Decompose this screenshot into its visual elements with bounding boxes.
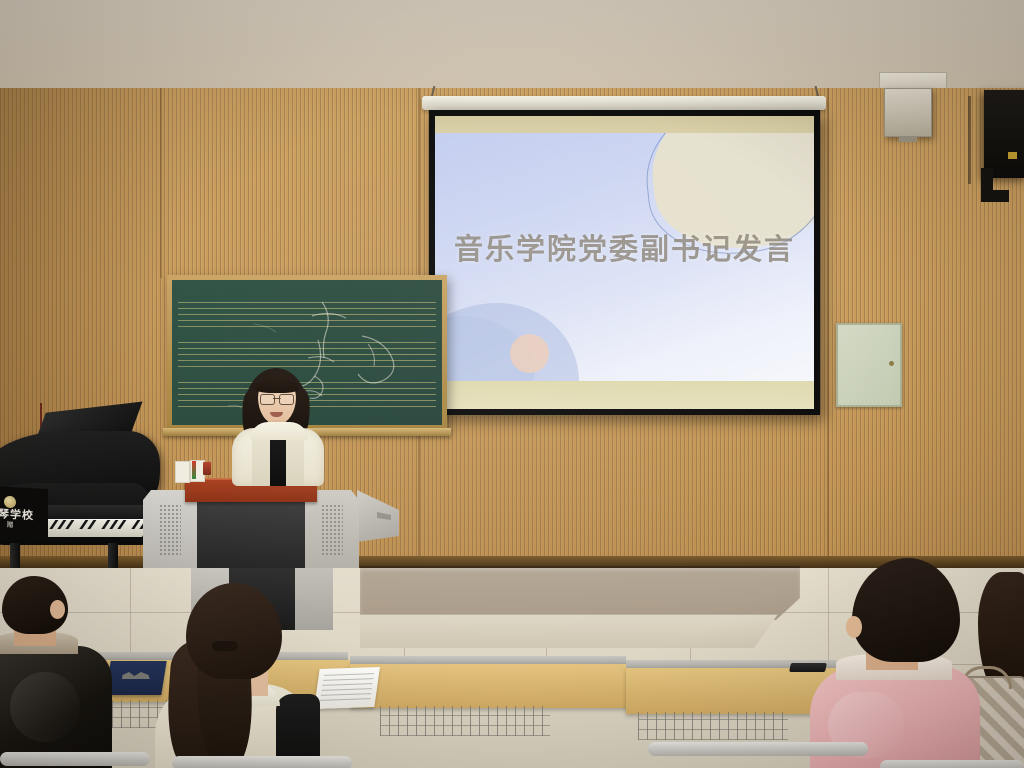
- projection-screen[interactable]: 音乐学院党委副书记发言: [429, 110, 820, 415]
- speaker-label-icon: [1008, 152, 1017, 159]
- seat-back-rail: [172, 756, 352, 768]
- card-stripe-icon: [192, 461, 196, 479]
- stage-platform-top: [360, 568, 800, 620]
- audience-man-ear: [50, 600, 65, 619]
- wall-conduit: [968, 96, 971, 184]
- presenter-speaker: [222, 368, 334, 480]
- desk-book-basket: [380, 706, 550, 736]
- banner-line-1: 钢琴学校: [0, 507, 34, 521]
- seat-back-rail: [648, 742, 868, 756]
- classroom-photo-scene: 音乐学院党委副书记发言: [0, 0, 1024, 768]
- stage-platform-face: [360, 614, 778, 649]
- navy-folder[interactable]: [105, 661, 166, 695]
- lectern-side-extension: [357, 490, 399, 542]
- lectern-leg: [295, 568, 333, 630]
- projection-screen-roller[interactable]: [422, 96, 826, 110]
- projection-screen-surface: 音乐学院党委副书记发言: [435, 116, 814, 409]
- presentation-slide: 音乐学院党委副书记发言: [435, 133, 814, 381]
- audience-man-pink-ear: [846, 616, 862, 638]
- wall-panel-seam: [827, 88, 829, 588]
- banner-line-2: 赠: [7, 521, 14, 528]
- cup: [203, 462, 211, 475]
- wall-panel-seam: [160, 88, 162, 278]
- glasses-icon: [260, 394, 294, 403]
- slide-decor-circle: [510, 334, 549, 373]
- banner-emblem-icon: [4, 495, 16, 508]
- lectern-front-body: [197, 502, 305, 568]
- wall-speaker: [984, 90, 1024, 178]
- screen-top-band: [435, 116, 814, 133]
- desk-book-basket: [638, 712, 788, 740]
- audience-woman-hair: [186, 583, 282, 679]
- seat-back-rail: [880, 760, 1024, 768]
- hair-tie-icon: [212, 641, 238, 651]
- ceiling: [0, 0, 1024, 96]
- audience-desk-center: [350, 664, 628, 708]
- speaker-grille-icon: [159, 504, 181, 556]
- speaker-grille-icon: [321, 504, 343, 556]
- smartphone-on-desk[interactable]: [789, 663, 827, 672]
- projector-mount-foot: [899, 136, 917, 142]
- name-card: [175, 461, 190, 483]
- wall-access-panel[interactable]: [836, 323, 902, 407]
- lectern-desk-items: [175, 460, 209, 482]
- lectern-logo-icon: [377, 512, 391, 520]
- presenter-coat-hood: [250, 422, 308, 440]
- sheet-music-papers[interactable]: [314, 667, 380, 709]
- access-panel-knob-icon: [889, 361, 894, 366]
- ceiling-projector-box: [884, 88, 932, 137]
- seat-back-rail: [0, 752, 150, 766]
- piano-donation-banner: 钢琴学校 赠: [0, 485, 48, 539]
- screen-bottom-band: [435, 381, 814, 409]
- slide-title: 音乐学院党委副书记发言: [435, 226, 814, 268]
- jacket-highlight: [10, 672, 80, 742]
- folder-emblem-icon: [122, 672, 151, 679]
